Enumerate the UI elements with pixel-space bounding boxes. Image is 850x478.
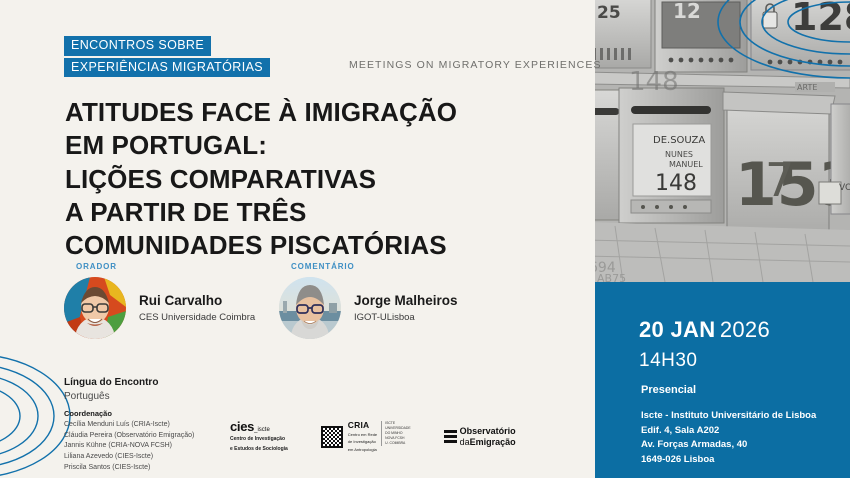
speaker-role-label: ORADOR [76, 262, 255, 271]
mailboxes-photo: 25 12 128 [595, 0, 850, 282]
coordination-section: Coordenação Cecília Menduni Luís (CRIA-I… [64, 409, 194, 473]
event-date: 20 JAN 2026 [639, 317, 770, 343]
event-date-day-month: 20 JAN [639, 317, 715, 342]
title-line-1: ATITUDES FACE À IMIGRAÇÃO [65, 96, 585, 129]
svg-text:7: 7 [765, 153, 794, 207]
cria-name: CRIA [348, 421, 377, 430]
cies-wordmark: cies [230, 419, 254, 434]
speaker-affiliation: CES Universidade Coimbra [139, 312, 255, 323]
observatorio-bars-icon [444, 430, 457, 443]
cria-subtitle-line-2: de Investigação [348, 439, 377, 445]
observatorio-line-2-prefix: da [460, 437, 470, 448]
series-tag-line-2: EXPERIÊNCIAS MIGRATÓRIAS [64, 58, 270, 78]
title-line-4: A PARTIR DE TRÊS [65, 196, 585, 229]
coordination-name: Cláudia Pereira (Observatório Emigração) [64, 431, 194, 442]
cria-subtitle-line-3: em Antropologia [348, 447, 377, 453]
event-poster: 25 12 128 [0, 0, 850, 478]
language-label: Língua do Encontro [64, 376, 158, 390]
address-line-4: 1649-026 Lisboa [641, 453, 816, 468]
observatorio-line-1: Observatório [460, 426, 516, 437]
cria-subtitle-line-1: Centro em Rede [348, 432, 377, 438]
svg-text:128: 128 [791, 0, 850, 39]
observatorio-line-2: Emigração [470, 437, 516, 448]
event-info-panel: 20 JAN 2026 14H30 Presencial Iscte - Ins… [595, 282, 850, 478]
coordination-label: Coordenação [64, 409, 194, 418]
cria-partner-5: U. COIMBRA [385, 441, 410, 446]
right-column: 25 12 128 [595, 0, 850, 478]
svg-text:AB75: AB75 [597, 272, 626, 282]
speakers-section: ORADOR [64, 262, 564, 357]
speaker-name: Rui Carvalho [139, 293, 255, 309]
coordination-name: Cecília Menduni Luís (CRIA-Iscte) [64, 420, 194, 431]
commentator-affiliation: IGOT-ULisboa [354, 312, 458, 323]
svg-text:VO: VO [839, 183, 850, 193]
avatar [279, 277, 341, 339]
partner-logos: cies_iscte Centro de Investigação e Estu… [230, 420, 516, 454]
page-title: ATITUDES FACE À IMIGRAÇÃO EM PORTUGAL: L… [65, 96, 585, 262]
speaker-rui-carvalho: ORADOR [64, 262, 255, 339]
title-line-5: COMUNIDADES PISCATÓRIAS [65, 229, 585, 262]
commentator-name: Jorge Malheiros [354, 293, 458, 309]
observatorio-logo: Observatório da Emigração [444, 426, 516, 449]
svg-text:148: 148 [655, 171, 697, 196]
coordination-name: Liliana Azevedo (CIES-Iscte) [64, 452, 194, 463]
svg-text:25: 25 [597, 3, 621, 23]
series-tag-line-1: ENCONTROS SOBRE [64, 36, 211, 56]
cies-subtitle-line-1: Centro de Investigação [230, 436, 288, 443]
english-subtitle: MEETINGS ON MIGRATORY EXPERIENCES [349, 59, 602, 71]
svg-text:MANUEL: MANUEL [669, 160, 703, 169]
svg-text:NUNES: NUNES [665, 150, 693, 159]
svg-text:ARTE: ARTE [797, 83, 817, 92]
event-time: 14H30 [639, 350, 698, 372]
title-line-3: LIÇÕES COMPARATIVAS [65, 163, 585, 196]
event-date-year: 2026 [720, 317, 770, 342]
svg-text:148: 148 [629, 67, 679, 97]
cies-logo: cies_iscte Centro de Investigação e Estu… [230, 420, 288, 454]
event-modality: Presencial [641, 384, 696, 396]
event-address: Iscte - Instituto Universitário de Lisbo… [641, 409, 816, 468]
coordination-name: Jannis Kühne (CRIA-NOVA FCSH) [64, 441, 194, 452]
svg-text:12: 12 [673, 0, 701, 23]
cies-subtitle-line-2: e Estudos de Sociologia [230, 446, 288, 453]
cies-suffix: _iscte [254, 427, 270, 433]
address-line-1: Iscte - Instituto Universitário de Lisbo… [641, 409, 816, 424]
language-section: Língua do Encontro Português [64, 376, 158, 402]
commentator-role-label: COMENTÁRIO [291, 262, 458, 271]
coordination-name: Priscila Santos (CIES-Iscte) [64, 463, 194, 474]
cria-logo: CRIA Centro em Rede de Investigação em A… [321, 421, 411, 452]
speaker-jorge-malheiros: COMENTÁRIO [279, 262, 458, 339]
address-line-2: Edif. 4, Sala A202 [641, 424, 816, 439]
svg-text:DE.SOUZA: DE.SOUZA [653, 135, 705, 146]
language-value: Português [64, 391, 158, 402]
address-line-3: Av. Forças Armadas, 40 [641, 438, 816, 453]
avatar [64, 277, 126, 339]
series-tags: ENCONTROS SOBRE EXPERIÊNCIAS MIGRATÓRIAS [64, 36, 270, 79]
title-line-2: EM PORTUGAL: [65, 129, 585, 162]
cria-qr-mark-icon [321, 426, 343, 448]
